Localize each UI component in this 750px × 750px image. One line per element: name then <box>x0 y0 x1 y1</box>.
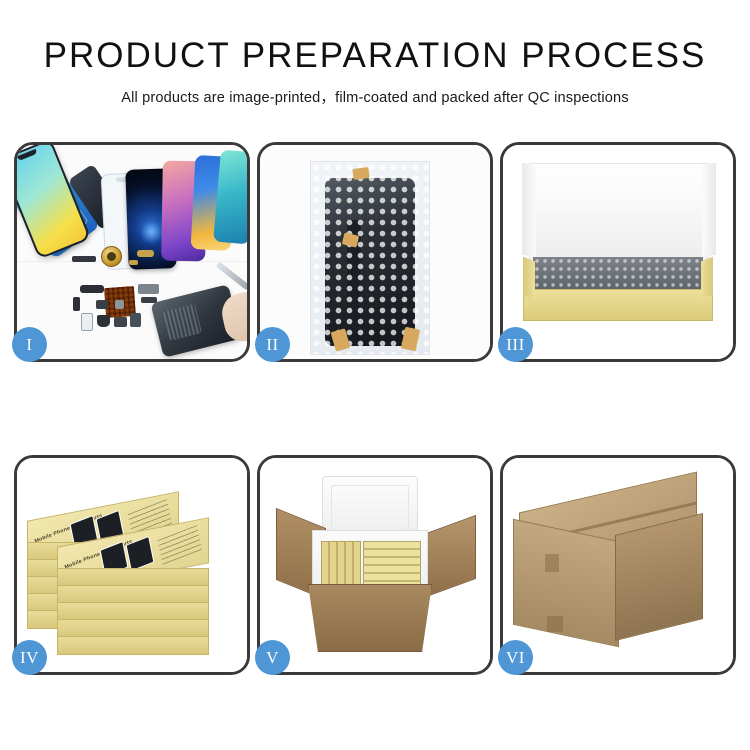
part-ribbon <box>141 297 157 303</box>
page-subtitle: All products are image-printed，film-coat… <box>0 86 750 107</box>
bubble-texture <box>311 162 429 354</box>
product-preparation-infographic: PRODUCT PREPARATION PROCESS All products… <box>0 0 750 750</box>
stacked-boxes-scene: Mobile Phone Spare Parts Mob <box>17 458 247 672</box>
process-step-6[interactable]: VI <box>500 455 736 675</box>
part-sensor <box>130 313 141 327</box>
tray-front-panel <box>523 289 713 321</box>
tray-lip-left <box>523 257 535 300</box>
process-step-4[interactable]: Mobile Phone Spare Parts Mob <box>14 455 250 675</box>
step-badge-1: I <box>12 327 47 362</box>
bubble-wrap-scene <box>260 145 490 359</box>
part-metal-bracket <box>138 284 159 294</box>
part-chip <box>96 300 108 309</box>
process-step-grid: I II <box>14 142 736 692</box>
part-vibrator <box>97 315 110 327</box>
bubble-wrapped-contents <box>533 257 703 291</box>
carton-front-face <box>513 519 619 648</box>
step-badge-3: III <box>498 327 533 362</box>
tray-lip-right <box>701 257 713 300</box>
box-layer <box>57 636 209 655</box>
part-gold-flex <box>137 250 154 257</box>
part-small-flex <box>73 297 80 311</box>
step-badge-2: II <box>255 327 290 362</box>
carton-front-panel <box>308 584 432 652</box>
step-4-image: Mobile Phone Spare Parts Mob <box>17 458 247 672</box>
lid-flap-right <box>702 163 716 257</box>
step-2-image <box>260 145 490 359</box>
box-spec-lines-front <box>158 525 203 567</box>
packed-boxes-vertical <box>321 541 361 585</box>
carton-side-face <box>615 513 703 641</box>
yellow-tray-box <box>523 257 713 319</box>
box-lid-white <box>529 163 709 265</box>
process-step-1[interactable]: I <box>14 142 250 362</box>
process-step-5[interactable]: V <box>257 455 493 675</box>
part-battery-connector <box>72 256 96 262</box>
page-title: PRODUCT PREPARATION PROCESS <box>0 38 750 75</box>
process-step-2[interactable]: II <box>257 142 493 362</box>
tape-strip-top <box>352 167 369 180</box>
part-gold-clip <box>129 260 138 265</box>
part-sim-tray <box>81 313 93 331</box>
step-badge-6: VI <box>498 640 533 675</box>
step-3-image <box>503 145 733 359</box>
part-camera-module <box>114 317 127 327</box>
lid-flap-left <box>522 163 536 257</box>
step-5-image <box>260 458 490 672</box>
carton-handle-tab-top <box>545 554 559 572</box>
carton-flap-right <box>426 515 476 597</box>
open-tray-scene <box>503 145 733 359</box>
carton-handle-tab-bottom <box>547 616 563 632</box>
part-flex-cable <box>80 285 104 293</box>
step-badge-5: V <box>255 640 290 675</box>
foam-carton-scene <box>260 458 490 672</box>
step-badge-4: IV <box>12 640 47 675</box>
part-shield-can <box>115 300 124 309</box>
step-1-image <box>17 145 247 359</box>
bubble-wrap-bag <box>310 161 430 355</box>
step-6-image <box>503 458 733 672</box>
header: PRODUCT PREPARATION PROCESS All products… <box>0 0 750 107</box>
process-step-3[interactable]: III <box>500 142 736 362</box>
foam-sheet <box>536 198 702 260</box>
packed-boxes-horizontal <box>363 541 421 585</box>
sealed-carton-scene <box>503 458 733 672</box>
phone-parts-scene <box>17 145 247 359</box>
speaker-module <box>101 246 122 267</box>
